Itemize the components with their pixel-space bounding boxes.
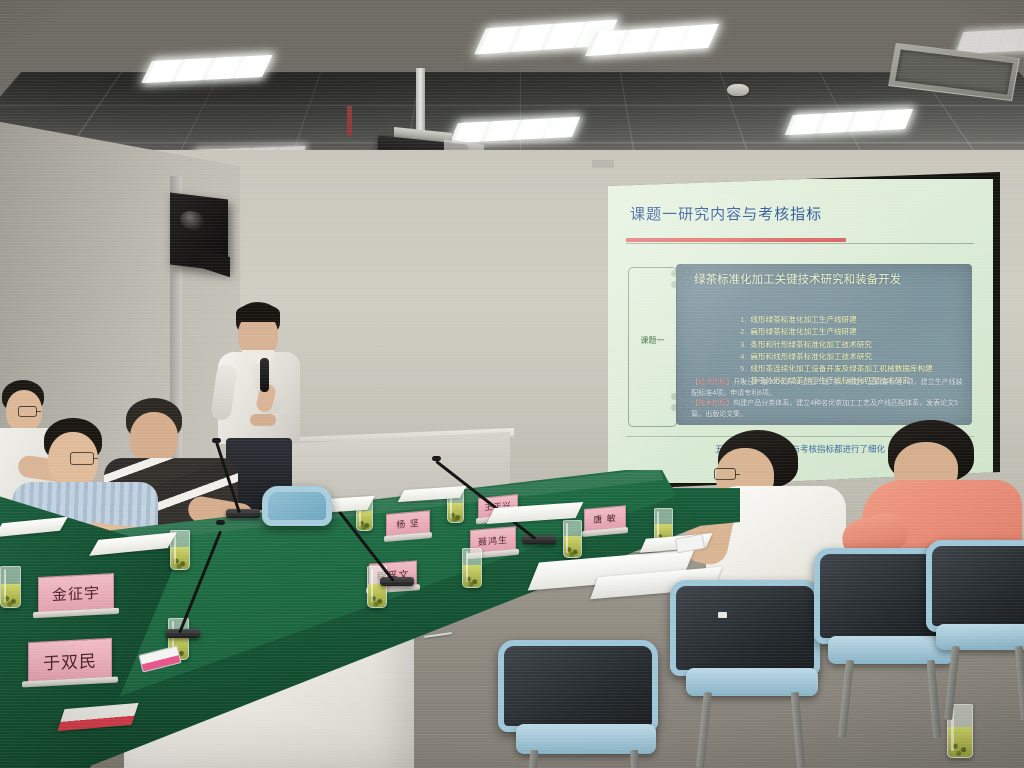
mic-base xyxy=(226,509,260,518)
chair-tag xyxy=(718,612,727,618)
mic-head xyxy=(216,520,225,525)
chair[interactable] xyxy=(660,580,830,768)
slide-item-list: 1.线形绿茶标准化加工生产线研建 2.扁形绿茶标准化加工生产线研建 3.条形和针… xyxy=(700,314,963,388)
attendee-glasses-icon xyxy=(18,406,37,417)
slide-side-label: 课题一 xyxy=(629,335,675,346)
slide-list-item: 1.线形绿茶标准化加工生产线研建 xyxy=(740,314,963,326)
slide-side-box: 课题一 xyxy=(628,267,676,427)
name-card: 唐 敏 xyxy=(584,505,626,532)
chair-back xyxy=(670,580,820,676)
presenter-hand-left xyxy=(250,414,276,426)
speaker-cone-icon xyxy=(180,210,204,232)
slide-heading: 绿茶标准化加工关键技术研究和装备开发 xyxy=(694,271,901,287)
mic-base xyxy=(380,577,414,586)
mic-head xyxy=(212,438,221,443)
slide-accent-bar xyxy=(626,238,846,242)
attendee-glasses-icon xyxy=(70,452,94,465)
chair-back xyxy=(262,486,332,526)
chair-leg xyxy=(1015,646,1024,720)
slide-list-item: 4.扁形和线形绿茶标准化加工技术研究 xyxy=(740,351,963,363)
chair[interactable] xyxy=(262,486,332,526)
tea-glass xyxy=(0,566,21,608)
name-card: 杨 坚 xyxy=(386,510,430,537)
slide-list-item: 3.条形和针形绿茶标准化加工技术研究 xyxy=(740,339,963,351)
chair-back xyxy=(926,540,1024,632)
tea-glass xyxy=(563,520,582,558)
smoke-detector-icon xyxy=(727,84,749,96)
ceiling-light-8 xyxy=(955,28,1024,54)
presenter-fringe xyxy=(236,304,280,322)
chair[interactable] xyxy=(486,640,666,768)
chair-leg xyxy=(944,646,960,720)
slide-note-economic: 【经济指标】开发日产量300公斤以上生产线2条，制定产品质量标准4项，建立生产线… xyxy=(691,378,963,400)
mic-base xyxy=(522,535,556,544)
slide-list-item: 2.扁形绿茶标准化加工生产线研建 xyxy=(740,326,963,338)
chair[interactable] xyxy=(920,540,1024,720)
slide-note-tag: 【技术指标】 xyxy=(691,400,733,407)
chair-seat xyxy=(936,624,1024,650)
slide-title: 课题一研究内容与考核指标 xyxy=(630,203,822,224)
chair-leg xyxy=(791,692,806,768)
name-card: 金征宇 xyxy=(38,573,114,613)
mic-head xyxy=(432,456,441,461)
attendee-glasses-icon xyxy=(714,468,736,480)
slide-list-item: 5.线形茶连续化加工设备开发及绿茶加工机械数据库构建 xyxy=(740,363,963,375)
mic-base xyxy=(166,629,200,638)
slide-content-panel: 绿茶标准化加工关键技术研究和装备开发 1.线形绿茶标准化加工生产线研建 2.扁形… xyxy=(676,264,971,425)
screen-housing xyxy=(592,160,614,168)
chair-back xyxy=(498,640,658,732)
slide-note-technical: 【技术指标】构建产品分类体系，建立4种名优茶加工工艺及产线匹配体系，发表论文5篇… xyxy=(691,399,963,421)
chair-leg xyxy=(838,660,854,738)
chair-leg xyxy=(696,692,712,768)
presenter-microphone xyxy=(260,358,269,392)
slide-note-tag: 【经济指标】 xyxy=(691,379,733,386)
slide-divider xyxy=(626,243,973,244)
name-card: 于双民 xyxy=(28,638,112,682)
conference-room-photo: 课题一研究内容与考核指标 课题一 绿茶标准化加工关键技术研究和装备开发 1.线形… xyxy=(0,0,1024,768)
tea-glass xyxy=(462,548,482,588)
sprinkler-icon xyxy=(347,106,352,136)
projector-mount-pole xyxy=(416,68,425,132)
